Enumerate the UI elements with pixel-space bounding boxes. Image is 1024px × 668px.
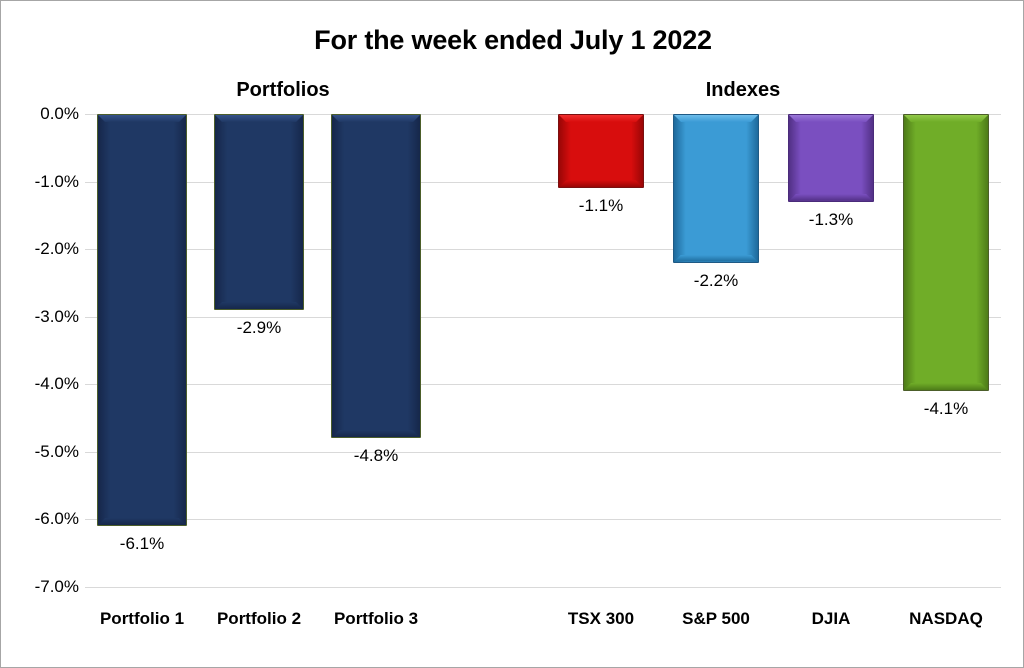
bar-data-label: -1.3% bbox=[788, 210, 874, 230]
y-axis-tick-label: -6.0% bbox=[7, 509, 79, 529]
bar-bevel-bottom bbox=[332, 430, 420, 437]
bar-data-label: -2.2% bbox=[673, 271, 759, 291]
y-axis-tick-label: -2.0% bbox=[7, 239, 79, 259]
plot-area: -6.1%-2.9%-4.8%-1.1%-2.2%-1.3%-4.1% bbox=[85, 114, 1001, 587]
x-axis-category-label: Portfolio 3 bbox=[306, 609, 446, 629]
bar[interactable] bbox=[903, 114, 989, 391]
bar-face bbox=[98, 115, 186, 525]
y-axis-tick-label: 0.0% bbox=[7, 104, 79, 124]
bar[interactable] bbox=[558, 114, 644, 188]
section-title-indexes: Indexes bbox=[633, 79, 853, 102]
x-axis-category-label: NASDAQ bbox=[878, 609, 1014, 629]
bar-data-label: -6.1% bbox=[97, 534, 187, 554]
bar-bevel-bottom bbox=[559, 180, 643, 187]
y-axis-tick-label: -5.0% bbox=[7, 442, 79, 462]
gridline bbox=[85, 587, 1001, 588]
gridline bbox=[85, 384, 1001, 385]
bar-bevel-top bbox=[789, 115, 873, 122]
chart-container: For the week ended July 1 2022 Portfolio… bbox=[0, 0, 1024, 668]
bar-data-label: -1.1% bbox=[558, 196, 644, 216]
bar-bevel-bottom bbox=[904, 383, 988, 390]
bar-face bbox=[904, 115, 988, 390]
bar-bevel-bottom bbox=[674, 255, 758, 262]
bar-face bbox=[559, 115, 643, 187]
y-axis-tick-label: -1.0% bbox=[7, 172, 79, 192]
chart-title: For the week ended July 1 2022 bbox=[1, 25, 1024, 56]
y-axis-tick-label: -3.0% bbox=[7, 307, 79, 327]
section-title-portfolios: Portfolios bbox=[173, 79, 393, 102]
bar-data-label: -2.9% bbox=[214, 318, 304, 338]
bar-bevel-bottom bbox=[789, 194, 873, 201]
y-axis-tick-label: -7.0% bbox=[7, 577, 79, 597]
bar-face bbox=[215, 115, 303, 309]
bar-data-label: -4.8% bbox=[331, 446, 421, 466]
bar-bevel-top bbox=[332, 115, 420, 122]
gridline bbox=[85, 452, 1001, 453]
bar-bevel-top bbox=[559, 115, 643, 122]
bar[interactable] bbox=[97, 114, 187, 526]
bar-bevel-bottom bbox=[215, 302, 303, 309]
bar-bevel-top bbox=[215, 115, 303, 122]
y-axis: 0.0%-1.0%-2.0%-3.0%-4.0%-5.0%-6.0%-7.0% bbox=[1, 114, 79, 587]
bar-bevel-top bbox=[98, 115, 186, 122]
bar-data-label: -4.1% bbox=[903, 399, 989, 419]
bar[interactable] bbox=[673, 114, 759, 263]
bar-bevel-bottom bbox=[98, 518, 186, 525]
bar-face bbox=[789, 115, 873, 201]
bar-bevel-top bbox=[904, 115, 988, 122]
gridline bbox=[85, 519, 1001, 520]
bar[interactable] bbox=[214, 114, 304, 310]
bar-face bbox=[674, 115, 758, 262]
bar[interactable] bbox=[331, 114, 421, 438]
bar[interactable] bbox=[788, 114, 874, 202]
x-axis: Portfolio 1Portfolio 2Portfolio 3TSX 300… bbox=[1, 601, 1024, 631]
y-axis-tick-label: -4.0% bbox=[7, 374, 79, 394]
bar-bevel-top bbox=[674, 115, 758, 122]
bar-face bbox=[332, 115, 420, 437]
